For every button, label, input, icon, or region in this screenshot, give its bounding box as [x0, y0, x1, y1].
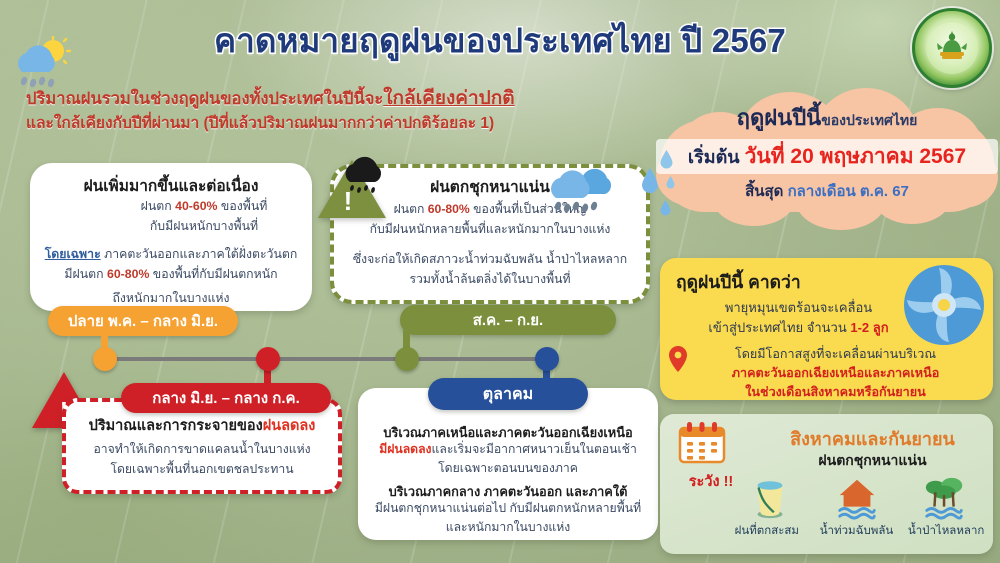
card-late-may-mid-june: ฝนเพิ่มมากขึ้นและต่อเนื่อง ฝนตก 40-60% ข… — [30, 163, 312, 311]
card4-body-1: มีฝนลดลงและเริ่มจะมีอากาศหนาวเย็นในตอนเช… — [364, 440, 652, 479]
card2-b1-pre: ฝนตก — [394, 202, 428, 216]
card2-b2: กับมีฝนหนักหลายพื้นที่และหนักมากในบางแห่… — [340, 220, 640, 240]
hazard-label-0: ฝนที่ตกสะสม — [722, 522, 811, 540]
card1-b2: กับมีฝนหนักบางพื้นที่ — [104, 217, 304, 237]
flooded-house-icon — [834, 474, 880, 520]
subtitle-part-3: ของทั้งประเทศในปีนี้จะ — [220, 90, 383, 108]
period-pill-mid-june: กลาง มิ.ย. – กลาง ก.ค. — [121, 383, 331, 413]
hazard-label-1: น้ำท่วมฉับพลัน — [812, 522, 901, 540]
period-pill-october: ตุลาคม — [428, 378, 588, 410]
cyclone-b1-line1: พายุหมุนเขตร้อนจะเคลื่อน — [700, 298, 897, 318]
cyclone-heading-pre: ฤดูฝนปีนี้ — [676, 272, 748, 292]
card2-b1-num: 60-80% — [428, 202, 470, 216]
card2-b3: ซึ่งจะก่อให้เกิดสภาวะน้ำท่วมฉับพลัน น้ำป… — [340, 250, 640, 270]
cyclone-count-value: 1-2 ลูก — [850, 320, 888, 335]
card3-heading: ปริมาณและการกระจายของฝนลดลง — [70, 414, 334, 437]
timeline-dot-august[interactable] — [395, 347, 419, 371]
season-start-value: วันที่ 20 พฤษภาคม 2567 — [745, 145, 967, 168]
timeline-dot-mid-june[interactable] — [256, 347, 280, 371]
card3-body: อาจทำให้เกิดการขาดแคลนน้ำในบางแห่ง โดยเฉ… — [72, 440, 332, 479]
card4-body-2: มีฝนตกชุกหนาแน่นต่อไป กับมีฝนตกหนักหลายพ… — [364, 499, 652, 538]
card4-b1-rest: และเริ่มจะมีอากาศหนาวเย็นในตอนเช้า — [432, 442, 637, 456]
card1-heading: ฝนเพิ่มมากขึ้นและต่อเนื่อง — [30, 173, 312, 198]
card2-b4: รวมทั้งน้ำล้นตลิ่งได้ในบางพื้นที่ — [340, 270, 640, 290]
season-dates-text: ฤดูฝนปีนี้ของประเทศไทย เริ่มต้น วันที่ 2… — [656, 100, 998, 203]
period-pill-late-may: ปลาย พ.ค. – กลาง มิ.ย. — [48, 306, 238, 336]
tmd-seal-icon — [912, 8, 992, 88]
season-start-label: เริ่มต้น — [688, 147, 740, 167]
cyclone-b1-line2-pre: เข้าสู่ประเทศไทย จำนวน — [708, 320, 850, 335]
season-end-value: กลางเดือน ต.ค. 67 — [788, 183, 909, 200]
period-pill-aug-sep: ส.ค. – ก.ย. — [400, 305, 616, 335]
card1-b1-num: 40-60% — [175, 199, 217, 213]
season-line1-bold: ฤดูฝนปีนี้ — [737, 105, 822, 130]
timeline-dot-october[interactable] — [535, 347, 559, 371]
subtitle-part-1: ปริมาณฝนรวม — [26, 90, 131, 108]
hazard-subheading: ฝนตกชุกหนาแน่น — [758, 450, 987, 472]
cyclone-heading: ฤดูฝนปีนี้ คาดว่า — [676, 268, 801, 296]
card-tropical-cyclone: ฤดูฝนปีนี้ คาดว่า พายุหมุนเขตร้อนจะเคลื่… — [660, 258, 993, 400]
card-october: บริเวณภาคเหนือและภาคตะวันออกเฉียงเหนือ ม… — [358, 388, 658, 540]
hazard-label-row: ฝนที่ตกสะสม น้ำท่วมฉับพลัน น้ำป่าไหลหลาก — [722, 522, 991, 540]
hazard-icon-row — [726, 472, 989, 520]
hazard-label-2: น้ำป่าไหลหลาก — [902, 522, 991, 540]
card4-b2-line1: มีฝนตกชุกหนาแน่นต่อไป กับมีฝนตกหนักหลายพ… — [364, 499, 652, 518]
card3-heading-em: ฝนลดลง — [263, 418, 316, 434]
subtitle-part-4: ใกล้เคียงค่าปกติ — [383, 88, 514, 109]
water-drop-icon-side-2 — [666, 176, 675, 189]
water-drop-icon-side-1 — [660, 150, 673, 169]
calendar-icon — [678, 420, 726, 466]
card3-b1: อาจทำให้เกิดการขาดแคลนน้ำในบางแห่ง — [72, 440, 332, 460]
card3-b2: โดยเฉพาะพื้นที่นอกเขตชลประทาน — [72, 460, 332, 480]
page-title: คาดหมายฤดูฝนของประเทศไทย ปี 2567 — [0, 14, 1000, 67]
card1-b4-post: ของพื้นที่กับมีฝนตกหนัก — [149, 267, 277, 281]
card1-b3-rest: ภาคตะวันออกและภาคใต้ฝั่งตะวันตก — [101, 247, 298, 261]
cyclone-body-1: พายุหมุนเขตร้อนจะเคลื่อน เข้าสู่ประเทศไท… — [700, 298, 897, 337]
hazard-heading: สิงหาคมและกันยายน — [758, 424, 987, 453]
subtitle-text: ปริมาณฝนรวมในช่วงฤดูฝนของทั้งประเทศในปีน… — [26, 86, 676, 135]
cloud-sun-rain-icon — [8, 36, 74, 92]
cyclone-b2-line2: ภาคตะวันออกเฉียงเหนือและภาคเหนือ — [688, 364, 983, 383]
card1-body-top: ฝนตก 40-60% ของพื้นที่ กับมีฝนหนักบางพื้… — [104, 197, 304, 237]
card1-b1-pre: ฝนตก — [141, 199, 175, 213]
cyclone-icon — [901, 262, 987, 348]
subtitle-part-2: ในช่วงฤดูฝน — [131, 90, 221, 108]
deva-emblem-icon — [932, 28, 972, 68]
infographic-canvas: คาดหมายฤดูฝนของประเทศไทย ปี 2567 ปริมาณฝ… — [0, 0, 1000, 563]
card-aug-sep-hazards: สิงหาคมและกันยายน ฝนตกชุกหนาแน่น ระวัง !… — [660, 414, 993, 554]
card1-b4-pre: มีฝนตก — [64, 267, 107, 281]
card1-b4-num: 60-80% — [107, 267, 149, 281]
cyclone-b2-line3: ในช่วงเดือนสิงหาคมหรือกันยายน — [688, 383, 983, 402]
timeline-dot-late-may[interactable] — [93, 347, 117, 371]
card4-b1-em: มีฝนลดลง — [379, 442, 431, 456]
map-pin-icon — [668, 346, 688, 372]
subtitle-line-2: และใกล้เคียงกับปีที่ผ่านมา (ปีที่แล้วปริ… — [26, 113, 676, 135]
blue-rain-cloud-icon — [546, 160, 620, 220]
card1-b1-post: ของพื้นที่ — [218, 199, 268, 213]
card1-b3-em: โดยเฉพาะ — [45, 247, 101, 261]
cyclone-body-2: โดยมีโอกาสสูงที่จะเคลื่อนผ่านบริเวณ ภาคต… — [688, 345, 983, 402]
card1-body-bottom: โดยเฉพาะ ภาคตะวันออกและภาคใต้ฝั่งตะวันตก… — [36, 245, 306, 309]
flooded-forest-icon — [922, 474, 968, 520]
dark-rain-cloud-icon — [336, 152, 394, 198]
card3-heading-pre: ปริมาณและการกระจายของ — [89, 418, 263, 434]
rain-gauge-bucket-icon — [747, 474, 793, 520]
card4-b2-line2: และหนักมากในบางแห่ง — [364, 518, 652, 537]
season-end-label: สิ้นสุด — [745, 183, 783, 200]
season-line1-small: ของประเทศไทย — [821, 112, 917, 128]
card2-body-bottom: ซึ่งจะก่อให้เกิดสภาวะน้ำท่วมฉับพลัน น้ำป… — [340, 250, 640, 289]
cyclone-heading-em: คาดว่า — [748, 272, 801, 292]
timeline-axis — [95, 357, 547, 361]
card4-b1-line2: โดยเฉพาะตอนบนของภาค — [364, 459, 652, 478]
